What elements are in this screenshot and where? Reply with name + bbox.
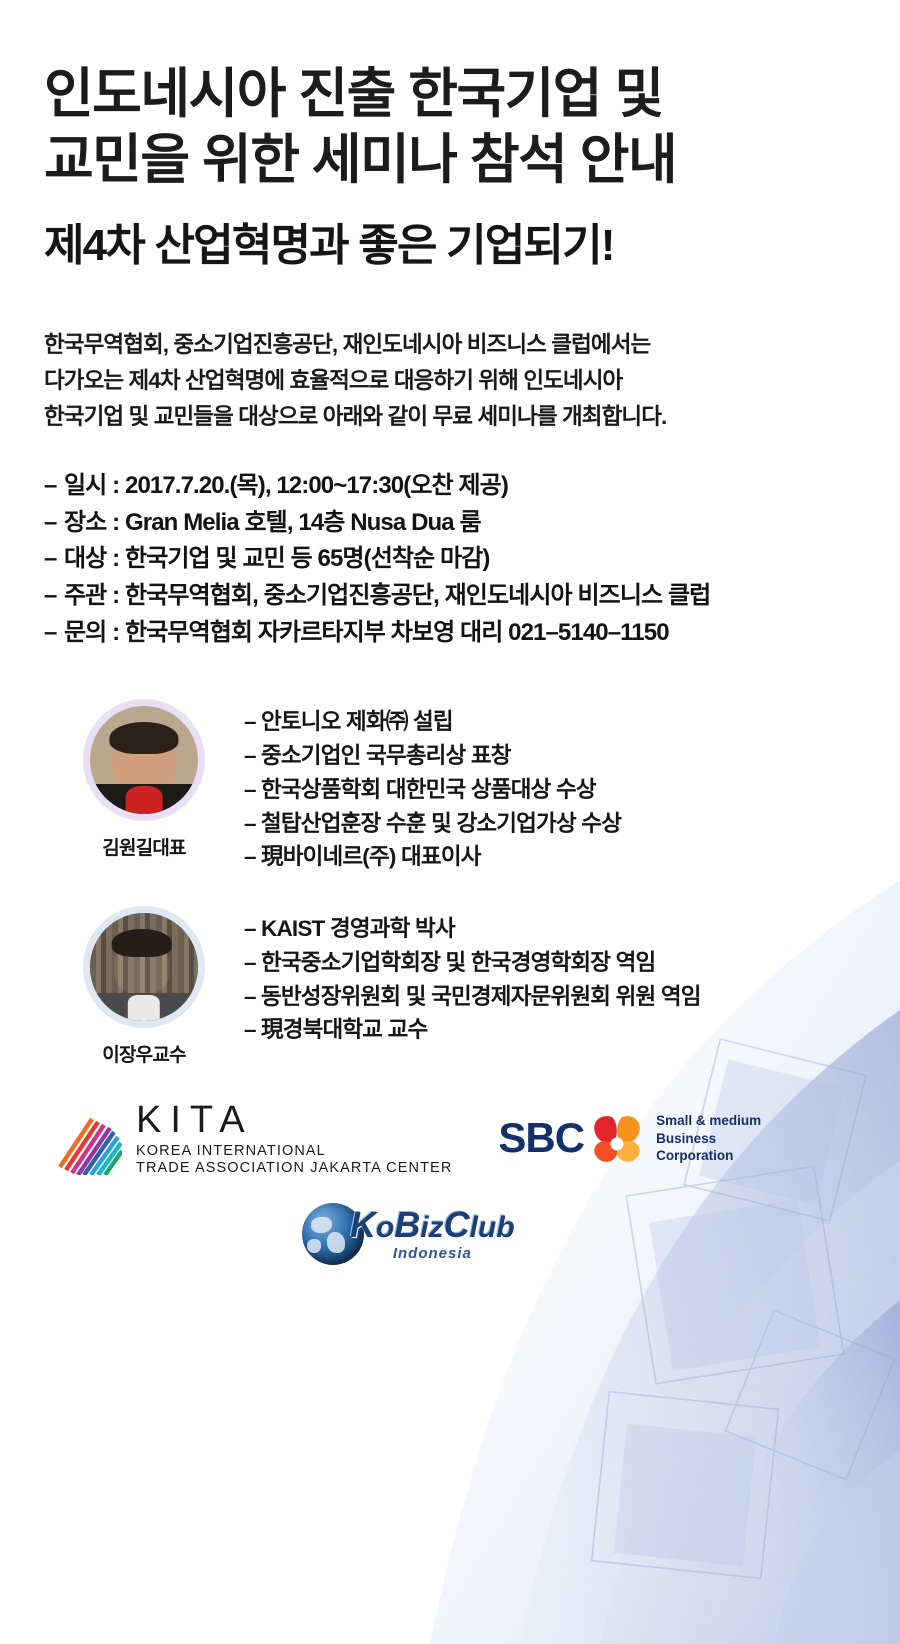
bio-item-text: 철탑산업훈장 수훈 및 강소기업가상 수상: [261, 811, 621, 836]
kita-logo: KITA KOREA INTERNATIONAL TRADE ASSOCIATI…: [56, 1101, 452, 1175]
bio-item: –現바이네르(주) 대표이사: [244, 840, 856, 874]
kobiz-text-block: KoBizClub Indonesia: [350, 1207, 515, 1262]
bio-item: –안토니오 제화㈜ 설립: [244, 705, 856, 739]
detail-value: 한국기업 및 교민 등 65명(선착순 마감): [125, 545, 489, 572]
list-dash: –: [244, 840, 261, 874]
intro-line-3: 한국기업 및 교민들을 대상으로 아래와 같이 무료 세미나를 개최합니다.: [44, 399, 856, 435]
bio-item: –한국상품학회 대한민국 상품대상 수상: [244, 773, 856, 807]
detail-row-organizers: –주관 : 한국무역협회, 중소기업진흥공단, 재인도네시아 비즈니스 클럽: [44, 578, 856, 615]
intro-line-2: 다가오는 제4차 산업혁명에 효율적으로 대응하기 위해 인도네시아: [44, 363, 856, 399]
globe-landmass: [311, 1217, 332, 1233]
detail-row-venue: –장소 : Gran Melia 호텔, 14층 Nusa Dua 룸: [44, 505, 856, 542]
list-dash: –: [244, 807, 261, 841]
avatar-shirt: [126, 786, 163, 814]
detail-value: 한국무역협회, 중소기업진흥공단, 재인도네시아 비즈니스 클럽: [125, 582, 710, 609]
event-details-list: –일시 : 2017.7.20.(목), 12:00~17:30(오찬 제공) …: [44, 468, 856, 652]
list-dash: –: [244, 980, 261, 1014]
speaker-1-bio-list: –안토니오 제화㈜ 설립 –중소기업인 국무총리상 표창 –한국상품학회 대한민…: [244, 695, 856, 874]
poster-subtitle: 제4차 산업혁명과 좋은 기업되기!: [44, 220, 856, 273]
detail-row-audience: –대상 : 한국기업 및 교민 등 65명(선착순 마감): [44, 541, 856, 578]
kita-subtitle-line-2: TRADE ASSOCIATION JAKARTA CENTER: [136, 1161, 452, 1176]
list-dash: –: [44, 541, 64, 578]
detail-label: 일시 :: [64, 472, 119, 499]
intro-paragraph: 한국무역협회, 중소기업진흥공단, 재인도네시아 비즈니스 클럽에서는 다가오는…: [44, 327, 856, 436]
detail-label: 문의 :: [64, 619, 119, 646]
logo-row: KITA KOREA INTERNATIONAL TRADE ASSOCIATI…: [44, 1101, 856, 1175]
poster-root: 인도네시아 진출 한국기업 및 교민을 위한 세미나 참석 안내 제4차 산업혁…: [0, 0, 900, 1265]
bio-item-text: KAIST 경영과학 박사: [261, 916, 455, 941]
list-dash: –: [44, 615, 64, 652]
bio-item-text: 現바이네르(주) 대표이사: [261, 844, 481, 869]
bio-item: –KAIST 경영과학 박사: [244, 912, 856, 946]
kobiz-wordmark: KoBizClub: [350, 1207, 515, 1243]
kobiz-letters-iz: iz: [420, 1211, 443, 1244]
sbc-subtitle-block: Small & medium Business Corporation: [656, 1112, 761, 1164]
bio-item-text: 중소기업인 국무총리상 표창: [261, 743, 511, 768]
kobiz-letter-c: C: [444, 1204, 470, 1245]
bio-item-text: 한국상품학회 대한민국 상품대상 수상: [261, 777, 596, 802]
kita-mark-icon: [56, 1115, 122, 1175]
list-dash: –: [44, 578, 64, 615]
bio-item: –철탑산업훈장 수훈 및 강소기업가상 수상: [244, 807, 856, 841]
list-dash: –: [244, 739, 261, 773]
detail-label: 장소 :: [64, 509, 119, 536]
kobiz-letters-lub: lub: [470, 1211, 515, 1244]
avatar-hair: [109, 722, 178, 754]
title-block: 인도네시아 진출 한국기업 및 교민을 위한 세미나 참석 안내 제4차 산업혁…: [44, 0, 856, 273]
kita-subtitle-line-1: KOREA INTERNATIONAL: [136, 1144, 452, 1159]
bio-item-text: 現경북대학교 교수: [261, 1017, 427, 1042]
kita-wordmark: KITA: [136, 1101, 452, 1139]
list-dash: –: [44, 505, 64, 542]
detail-value: 한국무역협회 자카르타지부 차보영 대리 021–5140–1150: [125, 619, 669, 646]
speaker-2-name: 이장우교수: [102, 1040, 185, 1067]
sbc-subtitle-line-2: Business: [656, 1130, 761, 1147]
speaker-2-photo-ring: [83, 906, 205, 1028]
sbc-subtitle-line-1: Small & medium: [656, 1112, 761, 1129]
globe-landmass: [327, 1232, 346, 1253]
speaker-1-avatar: [90, 706, 198, 814]
bio-item-text: 안토니오 제화㈜ 설립: [261, 709, 453, 734]
speaker-1-photo-column: 김원길대표: [44, 695, 244, 860]
bio-item-text: 한국중소기업학회장 및 한국경영학회장 역임: [261, 950, 655, 975]
detail-row-contact: –문의 : 한국무역협회 자카르타지부 차보영 대리 021–5140–1150: [44, 615, 856, 652]
list-dash: –: [44, 468, 64, 505]
avatar-shirt: [128, 995, 160, 1021]
bio-item: –동반성장위원회 및 국민경제자문위원회 위원 역임: [244, 980, 856, 1014]
sbc-wordmark: SBC: [498, 1117, 584, 1159]
kobiz-letter-o: o: [376, 1211, 394, 1244]
bio-item: –중소기업인 국무총리상 표창: [244, 739, 856, 773]
globe-landmass: [307, 1239, 321, 1253]
avatar-hair: [112, 929, 172, 957]
bio-item-text: 동반성장위원회 및 국민경제자문위원회 위원 역임: [261, 984, 701, 1009]
speaker-2-avatar: [90, 913, 198, 1021]
sbc-subtitle-line-3: Corporation: [656, 1147, 761, 1164]
kita-text-block: KITA KOREA INTERNATIONAL TRADE ASSOCIATI…: [136, 1101, 452, 1175]
speaker-2-bio-list: –KAIST 경영과학 박사 –한국중소기업학회장 및 한국경영학회장 역임 –…: [244, 902, 856, 1047]
detail-label: 대상 :: [64, 545, 119, 572]
list-dash: –: [244, 946, 261, 980]
speaker-1-photo-ring: [83, 699, 205, 821]
list-dash: –: [244, 705, 261, 739]
kobiz-letter-b: B: [394, 1204, 420, 1245]
detail-label: 주관 :: [64, 582, 119, 609]
poster-title-line-1: 인도네시아 진출 한국기업 및: [44, 62, 856, 128]
detail-row-date: –일시 : 2017.7.20.(목), 12:00~17:30(오찬 제공): [44, 468, 856, 505]
bio-item: –한국중소기업학회장 및 한국경영학회장 역임: [244, 946, 856, 980]
detail-value: Gran Melia 호텔, 14층 Nusa Dua 룸: [125, 509, 481, 536]
list-dash: –: [244, 773, 261, 807]
intro-line-1: 한국무역협회, 중소기업진흥공단, 재인도네시아 비즈니스 클럽에서는: [44, 327, 856, 363]
list-dash: –: [244, 912, 261, 946]
kobiz-subtitle: Indonesia: [350, 1245, 515, 1262]
speakers-section: 김원길대표 –안토니오 제화㈜ 설립 –중소기업인 국무총리상 표창 –한국상품…: [44, 695, 856, 1067]
kobiz-club-logo: KoBizClub Indonesia: [44, 1203, 856, 1265]
detail-value: 2017.7.20.(목), 12:00~17:30(오찬 제공): [125, 472, 508, 499]
speaker-entry-2: 이장우교수 –KAIST 경영과학 박사 –한국중소기업학회장 및 한국경영학회…: [44, 902, 856, 1067]
kobiz-letter-k: K: [350, 1204, 376, 1245]
sbc-logo: SBC Small & medium Business Corporation: [498, 1111, 761, 1165]
sbc-mark-icon: [586, 1111, 648, 1165]
speaker-2-photo-column: 이장우교수: [44, 902, 244, 1067]
bio-item: –現경북대학교 교수: [244, 1013, 856, 1047]
speaker-1-name: 김원길대표: [102, 833, 185, 860]
list-dash: –: [244, 1013, 261, 1047]
speaker-entry-1: 김원길대표 –안토니오 제화㈜ 설립 –중소기업인 국무총리상 표창 –한국상품…: [44, 695, 856, 874]
poster-title-line-2: 교민을 위한 세미나 참석 안내: [44, 128, 856, 194]
